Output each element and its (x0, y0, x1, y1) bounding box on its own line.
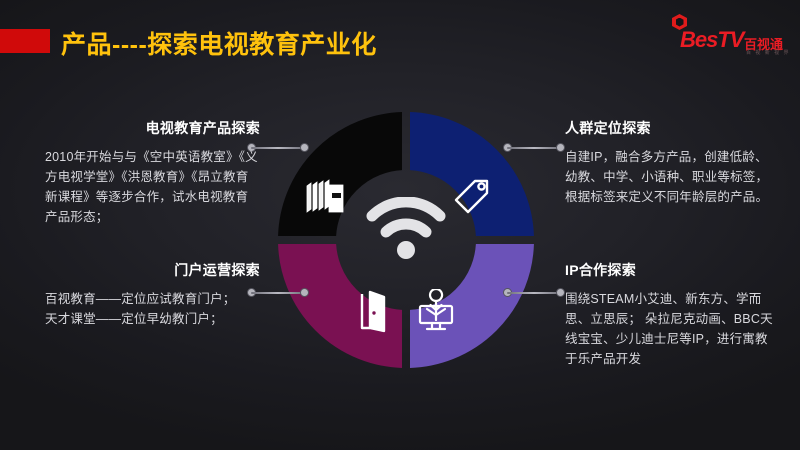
block-body: 自建IP，融合多方产品，创建低龄、幼教、中学、小语种、职业等标签，根据标签来定义… (565, 147, 780, 207)
connector-dot (556, 288, 565, 297)
slide-canvas: 产品----探索电视教育产业化 BesTV 百视通 百 视 新 视 界 (0, 0, 800, 450)
connector-top-right (503, 143, 565, 152)
wifi-icon (366, 197, 446, 259)
block-tv-education-product: 电视教育产品探索 2010年开始与与《空中英语教室》《义方电视学堂》《洪恩教育》… (45, 118, 260, 227)
connector-line (507, 147, 561, 149)
logo-tagline: 百 视 新 视 界 (746, 49, 790, 56)
block-body: 2010年开始与与《空中英语教室》《义方电视学堂》《洪恩教育》《昂立教育新课程》… (45, 147, 260, 227)
block-audience-positioning: 人群定位探索 自建IP，融合多方产品，创建低龄、幼教、中学、小语种、职业等标签，… (565, 118, 780, 207)
block-heading: 人群定位探索 (565, 118, 780, 138)
segmented-donut-diagram (278, 112, 534, 368)
connector-bottom-right (503, 288, 565, 297)
books-icon (302, 174, 348, 220)
connector-line (507, 292, 561, 294)
block-body: 百视教育——定位应试教育门户； 天才课堂——定位早幼教门户； (45, 289, 260, 329)
block-body: 围绕STEAM小艾迪、新东方、学而思、立思辰； 朵拉尼克动画、BBC天线宝宝、少… (565, 289, 780, 369)
block-ip-cooperation: IP合作探索 围绕STEAM小艾迪、新东方、学而思、立思辰； 朵拉尼克动画、BB… (565, 260, 780, 369)
connector-dot (556, 143, 565, 152)
block-heading: 电视教育产品探索 (45, 118, 260, 138)
connector-dot (300, 143, 309, 152)
tag-icon (448, 174, 494, 220)
block-heading: IP合作探索 (565, 260, 780, 280)
title-accent-bar (0, 29, 50, 53)
screen-brain-icon (413, 289, 459, 335)
block-heading: 门户运营探索 (45, 260, 260, 280)
logo-brand-text: BesTV (680, 27, 743, 53)
connector-dot (300, 288, 309, 297)
block-portal-operation: 门户运营探索 百视教育——定位应试教育门户； 天才课堂——定位早幼教门户； (45, 260, 260, 329)
door-icon (350, 288, 396, 334)
brand-logo: BesTV 百视通 百 视 新 视 界 (654, 14, 784, 54)
page-title: 产品----探索电视教育产业化 (61, 25, 377, 61)
